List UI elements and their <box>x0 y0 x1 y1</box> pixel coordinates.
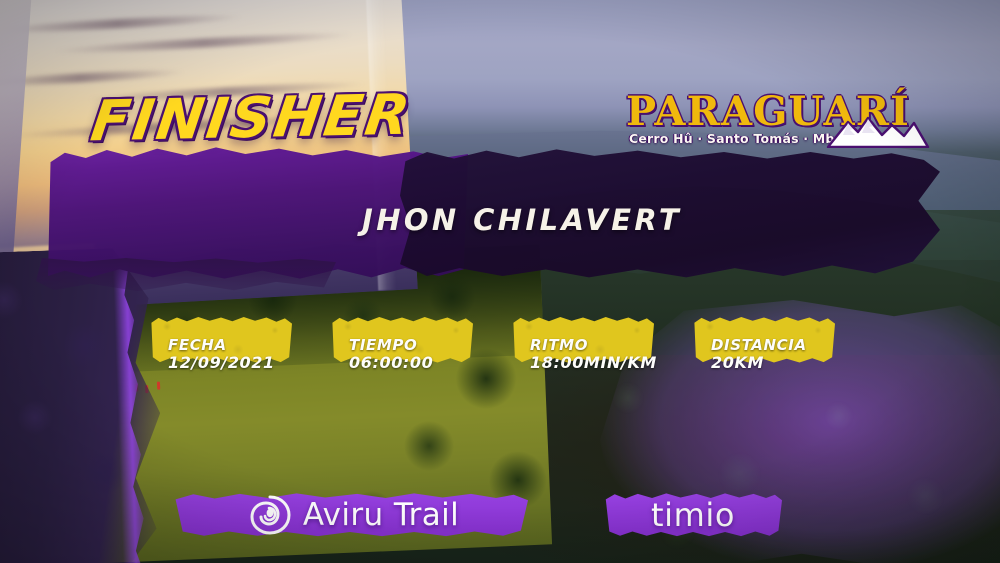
chip-text: FECHA 12/09/2021 <box>168 338 275 372</box>
stat-value: 18:00MIN/KM <box>530 355 657 372</box>
cloud-streak <box>54 30 354 56</box>
stat-label: RITMO <box>530 338 657 354</box>
cloud-streak <box>0 68 186 89</box>
stat-label: DISTANCIA <box>711 338 807 354</box>
stat-value: 20KM <box>711 355 807 372</box>
athlete-name: JHON CHILAVERT <box>362 203 682 237</box>
stat-chip-distancia: DISTANCIA 20KM <box>693 316 830 390</box>
sponsor-timio: timio <box>604 492 782 538</box>
sponsor-name: timio <box>651 496 735 534</box>
sponsor-name: Aviru Trail <box>303 497 459 533</box>
stat-chip-ritmo: RITMO 18:00MIN/KM <box>512 316 649 390</box>
chip-text: TIEMPO 06:00:00 <box>349 338 433 372</box>
sponsor-content: timio <box>604 492 782 538</box>
chip-text: RITMO 18:00MIN/KM <box>530 338 657 372</box>
sponsor-content: Aviru Trail <box>172 492 528 538</box>
event-logo: PARAGUARÍ Cerro Hû · Santo Tomás · Mbato… <box>626 88 926 150</box>
stat-chip-fecha: FECHA 12/09/2021 <box>150 316 287 390</box>
finisher-poster: FINISHER PARAGUARÍ Cerro Hû · Santo Tomá… <box>0 0 1000 563</box>
mountain-icon <box>826 114 930 148</box>
stats-row: FECHA 12/09/2021 TIEMPO 06:00:00 RITMO 1… <box>150 316 830 392</box>
chip-text: DISTANCIA 20KM <box>711 338 807 372</box>
stat-label: TIEMPO <box>349 338 433 354</box>
cloud-streak <box>0 12 243 35</box>
stat-chip-tiempo: TIEMPO 06:00:00 <box>331 316 468 390</box>
spiral-nest-icon <box>249 494 291 536</box>
sponsor-aviru-trail: Aviru Trail <box>172 492 528 538</box>
stat-value: 06:00:00 <box>349 355 433 372</box>
page-title: FINISHER <box>87 83 416 155</box>
stat-value: 12/09/2021 <box>168 355 275 372</box>
stat-label: FECHA <box>168 338 275 354</box>
